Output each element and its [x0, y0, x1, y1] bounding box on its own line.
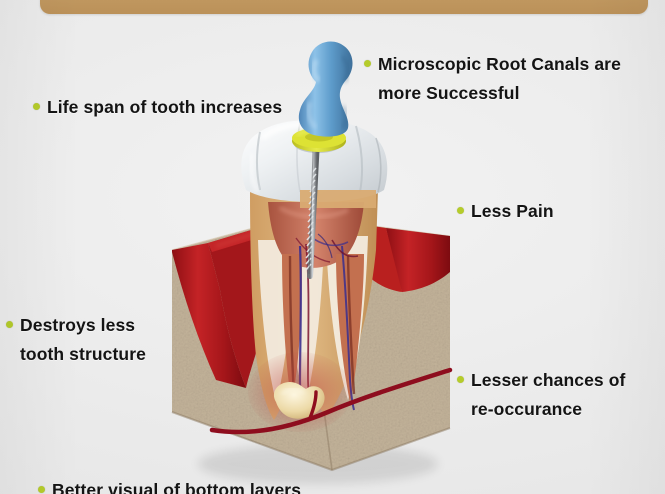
top-accent-bar [40, 0, 648, 14]
bullet-icon [38, 486, 45, 493]
callout-life-span: Life span of tooth increases [33, 93, 282, 122]
bullet-icon [457, 207, 464, 214]
bullet-icon [457, 376, 464, 383]
bullet-icon [33, 103, 40, 110]
infographic-canvas: Microscopic Root Canals are more Success… [0, 0, 665, 494]
bullet-icon [364, 60, 371, 67]
callout-microscopic-root-canals: Microscopic Root Canals are more Success… [364, 50, 621, 108]
callout-line-1: Less Pain [471, 201, 554, 221]
callout-line-2: more Successful [378, 79, 621, 108]
callout-lesser-re-occurance: Lesser chances of re-occurance [457, 366, 625, 424]
callout-line-1: Life span of tooth increases [47, 97, 282, 117]
callout-destroys-less-structure: Destroys less tooth structure [6, 311, 146, 369]
callout-line-1: Microscopic Root Canals are [378, 54, 621, 74]
callout-line-1: Destroys less [20, 315, 135, 335]
file-handle[interactable] [299, 41, 353, 136]
bullet-icon [6, 321, 13, 328]
callout-line-1: Lesser chances of [471, 370, 625, 390]
callout-line-2: tooth structure [20, 340, 146, 369]
callout-less-pain: Less Pain [457, 197, 554, 226]
callout-line-1: Better visual of bottom layers [52, 480, 301, 494]
callout-better-visual: Better visual of bottom layers [38, 476, 301, 494]
callout-line-2: re-occurance [471, 395, 625, 424]
